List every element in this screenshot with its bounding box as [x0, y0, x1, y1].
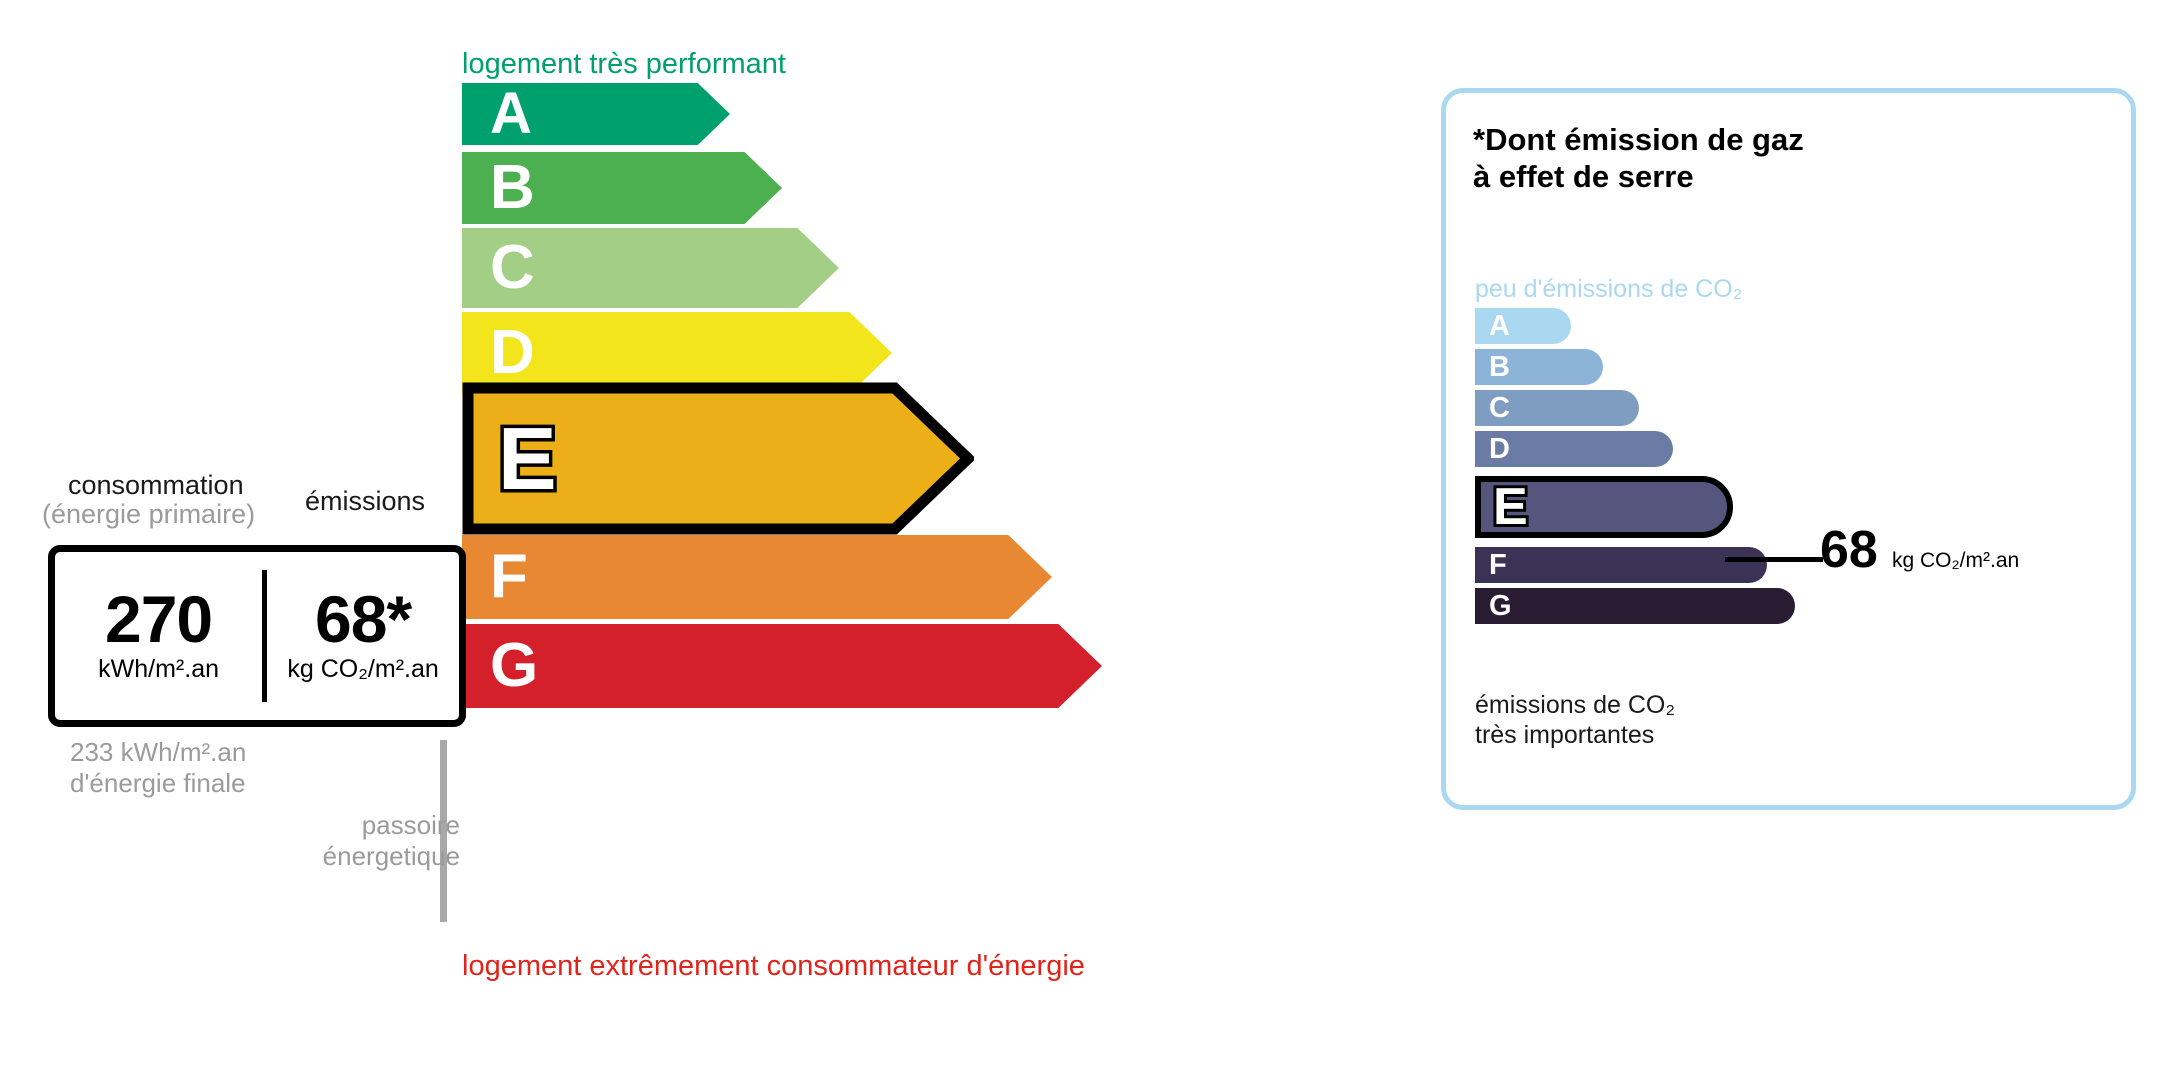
emissions-cell: 68* kg CO₂/m².an [267, 552, 459, 720]
co2-bar-shape-b: B [1475, 349, 1603, 385]
co2-bar-shape-e: E [1475, 476, 1733, 538]
band-letter-e: E [498, 415, 557, 503]
energy-band-e: E [462, 382, 974, 535]
co2-callout-leader-line [1725, 557, 1823, 562]
emissions-caption: émissions [305, 486, 425, 517]
value-box: 270 kWh/m².an 68* kg CO₂/m².an [48, 545, 466, 727]
co2-bar-shape-a: A [1475, 308, 1571, 344]
co2-bands: ABCDEFG [1475, 308, 1795, 624]
co2-band-letter-d: D [1489, 435, 1510, 464]
co2-band-a: A [1475, 308, 1795, 344]
co2-band-letter-f: F [1489, 551, 1507, 580]
scale-bottom-caption: logement extrêmement consommateur d'éner… [462, 950, 1085, 983]
co2-callout-unit: kg CO₂/m².an [1892, 549, 2019, 573]
co2-band-g: G [1475, 588, 1795, 624]
co2-bar-shape-f: F [1475, 547, 1767, 583]
band-letter-a: A [490, 85, 532, 143]
energy-band-a: A [462, 83, 730, 145]
band-arrow-shape [462, 535, 1052, 619]
co2-band-letter-e: E [1493, 481, 1528, 533]
co2-band-c: C [1475, 390, 1795, 426]
energy-band-b: B [462, 152, 782, 224]
band-letter-f: F [490, 546, 528, 608]
co2-band-f: F [1475, 547, 1795, 583]
co2-band-letter-a: A [1489, 312, 1510, 341]
energy-band-f: F [462, 535, 1052, 619]
band-letter-d: D [490, 322, 535, 384]
co2-band-b: B [1475, 349, 1795, 385]
co2-band-letter-b: B [1489, 353, 1510, 382]
consumption-subcaption: (énergie primaire) [42, 499, 255, 530]
co2-band-letter-c: C [1489, 394, 1510, 423]
co2-band-e: E [1475, 476, 1795, 538]
passoire-note: passoireénergetique [300, 810, 460, 871]
band-arrow-f [462, 535, 1052, 619]
consumption-caption: consommation [68, 470, 244, 501]
band-letter-g: G [490, 635, 538, 697]
co2-bottom-label: émissions de CO₂très importantes [1475, 690, 1675, 750]
consumption-unit: kWh/m².an [98, 655, 219, 684]
band-arrow-shape [462, 624, 1102, 708]
consumption-cell: 270 kWh/m².an [55, 552, 262, 720]
band-letter-c: C [490, 237, 535, 299]
co2-callout-value: 68 [1820, 524, 1878, 576]
band-letter-b: B [490, 157, 535, 219]
co2-bar-shape-c: C [1475, 390, 1639, 426]
co2-band-letter-g: G [1489, 592, 1512, 621]
energy-band-c: C [462, 228, 839, 308]
co2-panel-title: *Dont émission de gazà effet de serre [1473, 121, 1804, 195]
band-arrow-g [462, 624, 1102, 708]
co2-top-label: peu d'émissions de CO₂ [1475, 275, 1742, 304]
co2-bar-shape-d: D [1475, 431, 1673, 467]
dpe-diagram: logement très performant ABCDEFG logemen… [0, 0, 2169, 1079]
consumption-value: 270 [105, 588, 212, 651]
energy-band-g: G [462, 624, 1102, 708]
final-energy-note: 233 kWh/m².and'énergie finale [70, 737, 246, 798]
co2-band-d: D [1475, 431, 1795, 467]
emissions-value: 68* [315, 588, 411, 651]
emissions-unit: kg CO₂/m².an [287, 655, 438, 684]
co2-bar-shape-g: G [1475, 588, 1795, 624]
